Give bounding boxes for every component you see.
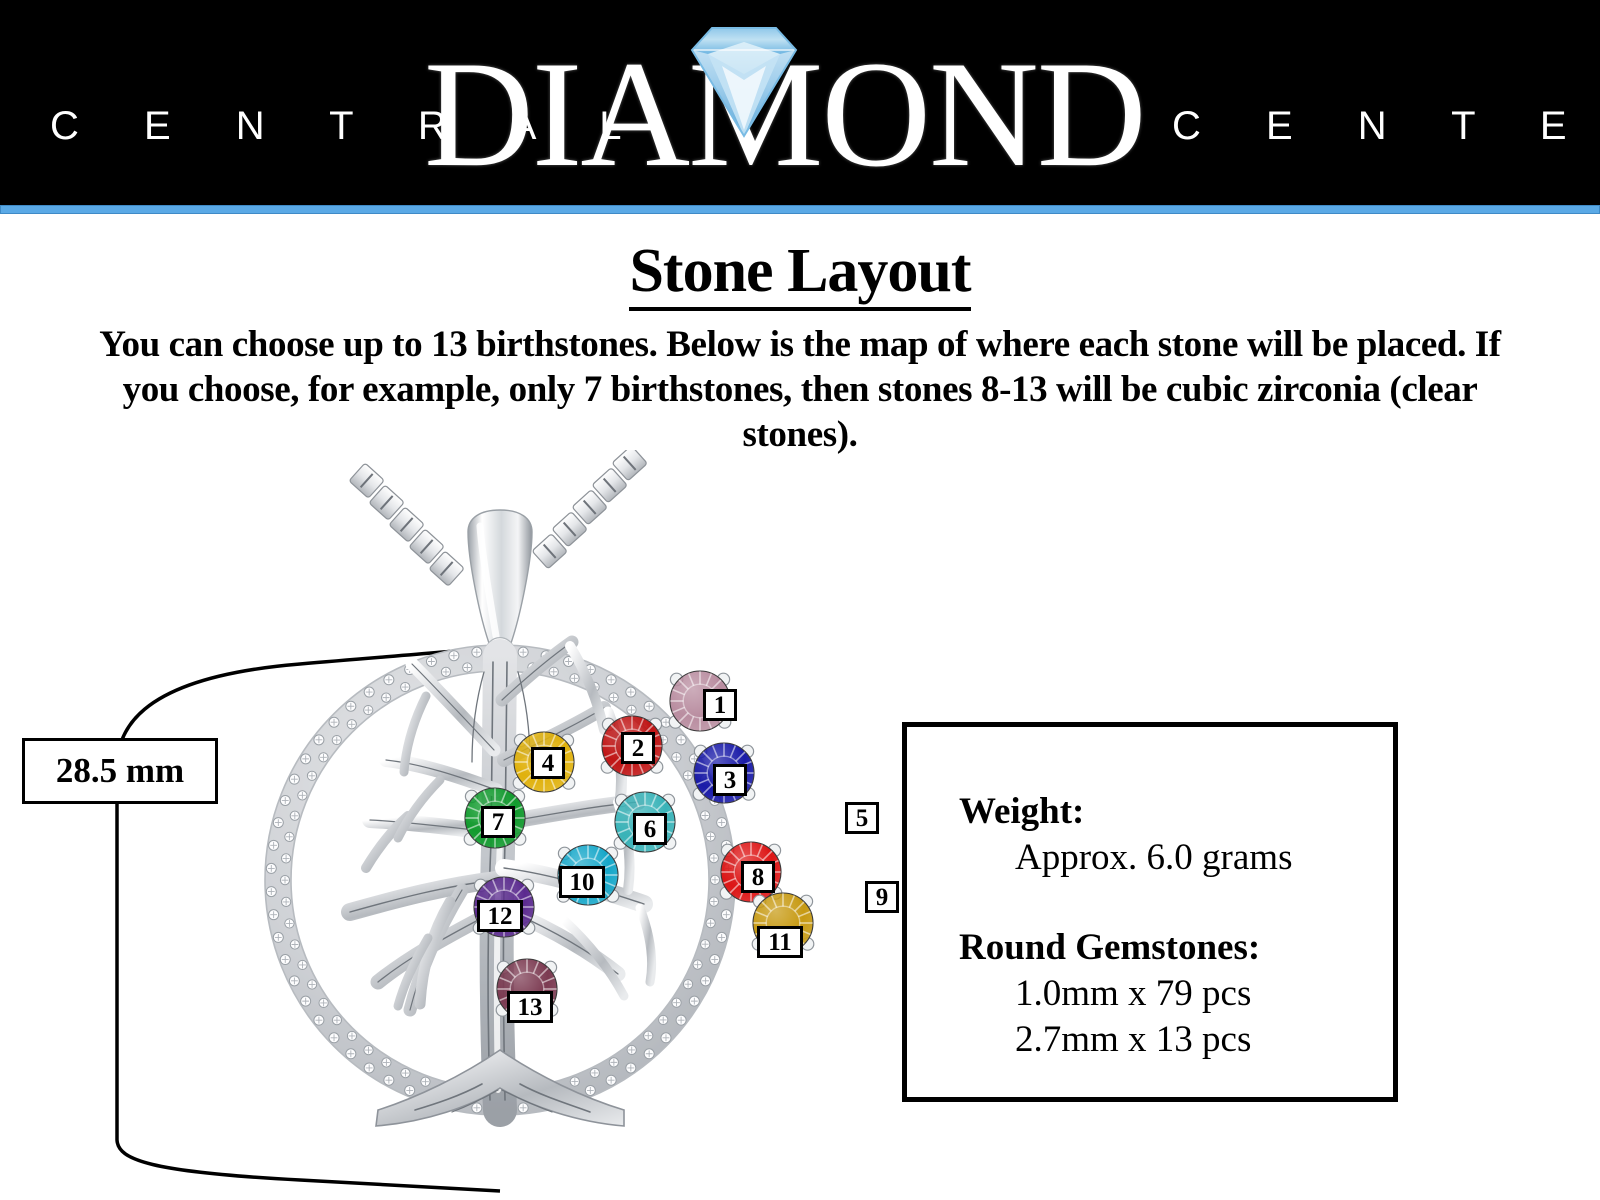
brand-center-label: C E N T E R [1172,104,1600,148]
stone-marker-8: 8 [741,861,775,893]
header-accent-bar [0,205,1600,214]
dimension-label: 28.5 mm [56,751,184,791]
page-title: Stone Layout [0,238,1600,304]
stone-marker-6: 6 [633,813,667,845]
specifications-box: Weight: Approx. 6.0 grams Round Gemstone… [902,722,1398,1102]
stone-marker-1: 1 [703,689,737,721]
weight-label: Weight: [959,789,1393,835]
stone-marker-2: 2 [621,732,655,764]
stone-marker-5: 5 [845,802,879,834]
stone-marker-7: 7 [481,806,515,838]
brand-text-center: C E N T E R™ [1172,104,1600,149]
dimension-callout-box: 28.5 mm [22,738,218,804]
stone-marker-10: 10 [559,866,605,898]
diamond-gem-icon [688,22,800,140]
weight-value: Approx. 6.0 grams [1015,835,1393,881]
stone-marker-9: 9 [865,881,899,913]
stone-marker-13: 13 [507,991,553,1023]
necklace-chain-left [349,463,464,586]
gemstones-value-2: 2.7mm x 13 pcs [1015,1017,1393,1063]
stone-marker-12: 12 [477,900,523,932]
intro-paragraph: You can choose up to 13 birthstones. Bel… [92,322,1508,457]
necklace-chain-right [532,450,647,569]
gemstones-label: Round Gemstones: [959,925,1393,971]
stone-marker-11: 11 [757,926,803,958]
header-banner: C E N T R A L DIAMOND [0,0,1600,205]
gemstones-value-1: 1.0mm x 79 pcs [1015,971,1393,1017]
stone-marker-3: 3 [713,764,747,796]
birthstone-gem-layer [464,671,820,1019]
page-title-text: Stone Layout [629,237,970,311]
gemstones-block: Round Gemstones: 1.0mm x 79 pcs 2.7mm x … [907,925,1393,1063]
pendant-illustration: 12345678910111213 [200,450,820,1190]
weight-block: Weight: Approx. 6.0 grams [907,789,1393,881]
stone-marker-4: 4 [531,747,565,779]
